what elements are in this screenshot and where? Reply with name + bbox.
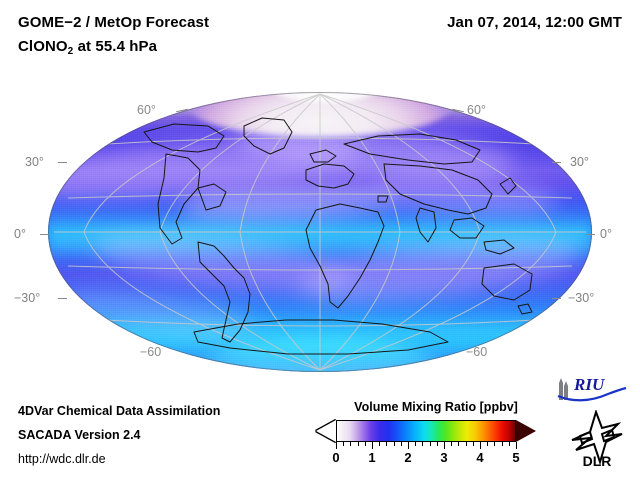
- figure-root: GOME−2 / MetOp Forecast ClONO2 at 55.4 h…: [0, 0, 640, 480]
- species-subscript: 2: [68, 46, 74, 57]
- colorbar-minor-tick: [343, 442, 344, 446]
- colorbar-minor-tick: [437, 442, 438, 446]
- lat-label-30n-left: 30°: [25, 155, 44, 169]
- dlr-logo: DLR: [566, 410, 628, 468]
- colorbar-tick-label: 2: [404, 450, 411, 465]
- lat-tick-30n-right: [552, 162, 561, 163]
- lat-label-60s-left: −60: [140, 345, 161, 359]
- colorbar-minor-tick: [430, 442, 431, 446]
- riu-logo: RIU: [556, 374, 628, 404]
- lat-tick-0-right: [586, 234, 595, 235]
- colorbar-minor-tick: [502, 442, 503, 446]
- page-subtitle: ClONO2 at 55.4 hPa: [18, 38, 157, 55]
- colorbar-tick-label: 1: [368, 450, 375, 465]
- colorbar-minor-tick: [466, 442, 467, 446]
- colorbar-minor-tick: [379, 442, 380, 446]
- colorbar-minor-tick: [415, 442, 416, 446]
- lat-tick-30n-left: [58, 162, 67, 163]
- globe-rim: [48, 92, 592, 372]
- lat-tick-0-left: [40, 234, 49, 235]
- colorbar-tick-label: 0: [332, 450, 339, 465]
- colorbar-major-tick: [336, 442, 337, 449]
- colorbar-gradient: [336, 420, 516, 442]
- colorbar-minor-tick: [386, 442, 387, 446]
- colorbar-minor-tick: [509, 442, 510, 446]
- colorbar-title: Volume Mixing Ratio [ppbv]: [336, 400, 536, 414]
- colorbar-ticks: [336, 442, 516, 449]
- lat-label-0-right: 0°: [600, 227, 612, 241]
- colorbar-major-tick: [444, 442, 445, 449]
- riu-wordmark: RIU: [573, 375, 605, 394]
- colorbar-over-cap: [516, 420, 536, 442]
- map-panel: [48, 92, 592, 372]
- forecast-datetime: Jan 07, 2014, 12:00 GMT: [447, 14, 622, 31]
- page-title: GOME−2 / MetOp Forecast: [18, 14, 209, 31]
- colorbar-minor-tick: [358, 442, 359, 446]
- colorbar-minor-tick: [401, 442, 402, 446]
- colorbar: [316, 420, 536, 442]
- colorbar-minor-tick: [487, 442, 488, 446]
- colorbar-major-tick: [480, 442, 481, 449]
- footer-line-version: SACADA Version 2.4: [18, 428, 141, 442]
- lat-label-30n-right: 30°: [570, 155, 589, 169]
- colorbar-minor-tick: [394, 442, 395, 446]
- footer-line-url[interactable]: http://wdc.dlr.de: [18, 452, 106, 466]
- colorbar-major-tick: [372, 442, 373, 449]
- colorbar-minor-tick: [365, 442, 366, 446]
- footer-line-method: 4DVar Chemical Data Assimilation: [18, 404, 220, 418]
- lat-label-60n-right: 60°: [467, 103, 486, 117]
- lat-label-60n-left: 60°: [137, 103, 156, 117]
- colorbar-minor-tick: [473, 442, 474, 446]
- lat-tick-30s-left: [58, 298, 67, 299]
- colorbar-minor-tick: [494, 442, 495, 446]
- pressure-level-label: at 55.4 hPa: [73, 38, 157, 55]
- lat-label-30s-right: −30°: [568, 291, 594, 305]
- colorbar-tick-label: 3: [440, 450, 447, 465]
- colorbar-major-tick: [408, 442, 409, 449]
- colorbar-tick-label: 5: [512, 450, 519, 465]
- globe-field: [48, 92, 592, 372]
- colorbar-minor-tick: [451, 442, 452, 446]
- lat-label-60s-right: −60: [466, 345, 487, 359]
- colorbar-tick-labels: 012345: [336, 450, 516, 468]
- colorbar-minor-tick: [458, 442, 459, 446]
- colorbar-minor-tick: [422, 442, 423, 446]
- colorbar-tick-label: 4: [476, 450, 483, 465]
- lat-label-0-left: 0°: [14, 227, 26, 241]
- colorbar-under-cap: [316, 420, 336, 442]
- species-label: ClONO: [18, 38, 68, 55]
- colorbar-major-tick: [516, 442, 517, 449]
- dlr-wordmark: DLR: [583, 453, 612, 468]
- lat-label-30s-left: −30°: [14, 291, 40, 305]
- colorbar-minor-tick: [350, 442, 351, 446]
- lat-tick-30s-right: [552, 298, 561, 299]
